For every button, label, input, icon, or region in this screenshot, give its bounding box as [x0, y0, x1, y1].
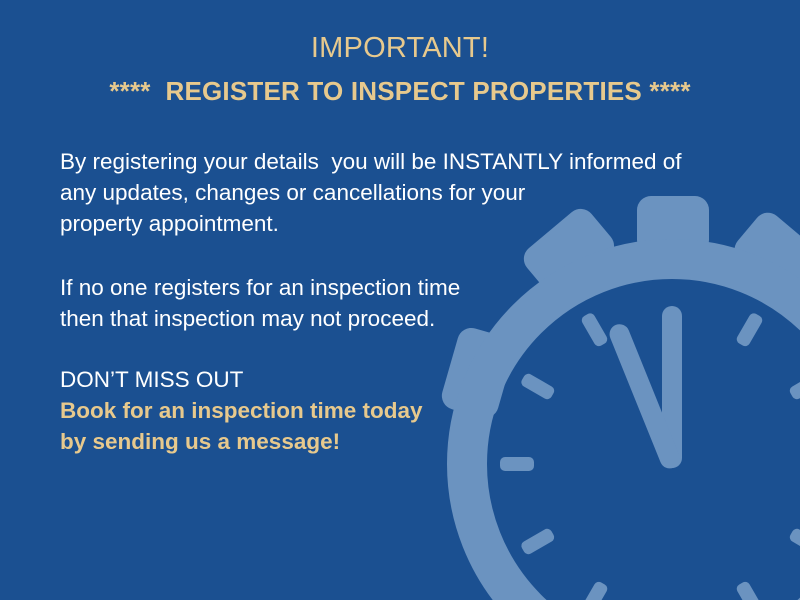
body-paragraph-no-registration: If no one registers for an inspection ti…	[60, 272, 460, 334]
slide-text-layer: IMPORTANT! **** REGISTER TO INSPECT PROP…	[0, 0, 800, 600]
cta-dont-miss-out: DON’T MISS OUT	[60, 364, 243, 395]
headline-register: **** REGISTER TO INSPECT PROPERTIES ****	[0, 77, 800, 106]
promotional-slide: IMPORTANT! **** REGISTER TO INSPECT PROP…	[0, 0, 800, 600]
headline-important: IMPORTANT!	[0, 33, 800, 65]
cta-book-inspection: Book for an inspection time today by sen…	[60, 395, 423, 457]
body-paragraph-registering: By registering your details you will be …	[60, 146, 682, 239]
